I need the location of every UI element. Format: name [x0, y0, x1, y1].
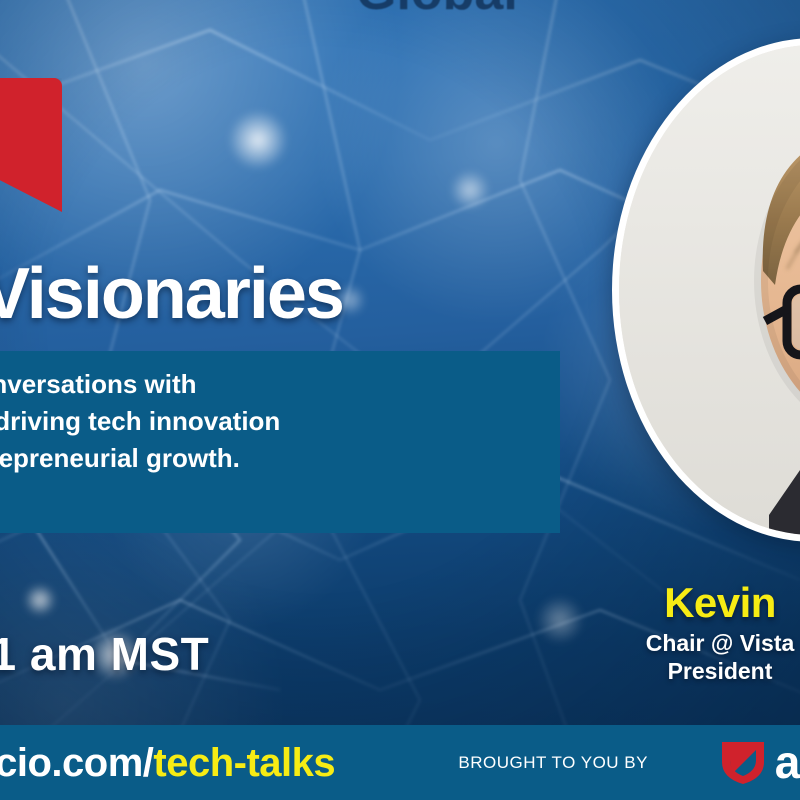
ribbon-banner-icon — [0, 78, 62, 212]
kicker-text: Global — [356, 0, 518, 22]
footer-url-prefix: advancio.com/ — [0, 741, 153, 785]
subcopy-line-2: leaders driving tech innovation — [0, 403, 576, 440]
speaker-block: Kevin Chair @ Vista President — [540, 582, 800, 685]
speaker-role-line-2: President — [540, 657, 800, 685]
speaker-name: Kevin — [540, 582, 800, 625]
speaker-role: Chair @ Vista President — [540, 629, 800, 685]
event-datetime: th, 11 am MST — [0, 627, 209, 681]
sponsor-wordmark: adv — [775, 739, 800, 785]
footer-band: advancio.com/tech-talks BROUGHT TO YOU B… — [0, 725, 800, 800]
brought-to-you-by-label: BROUGHT TO YOU BY — [458, 753, 648, 773]
show-logo: o s — [0, 22, 62, 212]
page-title: al Visionaries — [0, 258, 343, 330]
speaker-role-line-1: Chair @ Vista — [540, 629, 800, 657]
promo-banner: Global o s al Visionaries LIVE conversat… — [0, 0, 800, 800]
footer-url[interactable]: advancio.com/tech-talks — [0, 741, 335, 786]
speaker-portrait — [612, 38, 800, 542]
subcopy-line-3: and entrepreneurial growth. — [0, 440, 576, 477]
headshot-illustration — [619, 45, 800, 535]
sponsor-logo: adv — [719, 738, 800, 786]
shield-icon — [719, 738, 767, 786]
footer-url-accent: tech-talks — [153, 741, 335, 785]
subcopy-line-1: LIVE conversations with — [0, 366, 576, 403]
subcopy: LIVE conversations with leaders driving … — [0, 366, 576, 477]
